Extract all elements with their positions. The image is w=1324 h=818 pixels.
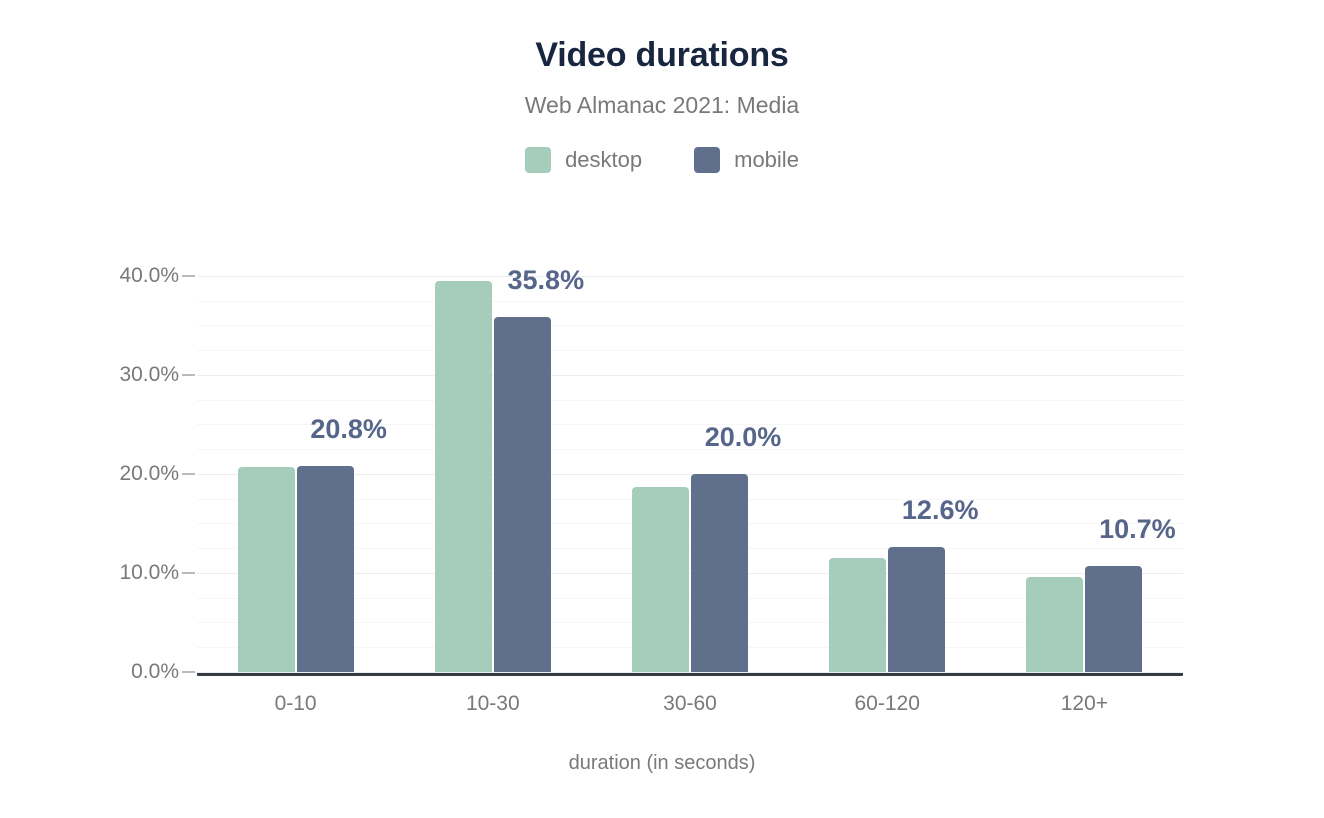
gridline-minor [197, 301, 1183, 302]
gridline-major [197, 375, 1183, 376]
bar-data-label: 10.7% [1099, 514, 1176, 545]
chart-title: Video durations [0, 36, 1324, 75]
gridline-minor [197, 449, 1183, 450]
y-axis-tick-label: 0.0% [59, 660, 179, 684]
legend-swatch-desktop [525, 147, 551, 173]
bar-desktop-60-120[interactable] [829, 558, 886, 672]
plot-area [197, 256, 1183, 672]
bar-desktop-30-60[interactable] [632, 487, 689, 672]
gridline-minor [197, 400, 1183, 401]
legend-label-desktop: desktop [565, 147, 642, 173]
x-axis-title: duration (in seconds) [0, 752, 1324, 775]
y-axis-tick-mark [182, 473, 195, 475]
bar-data-label: 20.0% [705, 422, 782, 453]
bar-desktop-0-10[interactable] [238, 467, 295, 672]
chart-subtitle: Web Almanac 2021: Media [0, 92, 1324, 119]
x-axis-tick-label: 0-10 [275, 692, 317, 716]
chart-container: Video durations Web Almanac 2021: Media … [0, 0, 1324, 818]
gridline-minor [197, 350, 1183, 351]
bar-desktop-120+[interactable] [1026, 577, 1083, 672]
bar-desktop-10-30[interactable] [435, 281, 492, 672]
y-axis-tick-mark [182, 572, 195, 574]
chart-legend: desktop mobile [0, 147, 1324, 173]
x-axis-tick-label: 10-30 [466, 692, 520, 716]
y-axis-tick-label: 30.0% [59, 363, 179, 387]
x-axis-tick-label: 60-120 [854, 692, 919, 716]
gridline-major [197, 672, 1183, 673]
legend-item-mobile[interactable]: mobile [694, 147, 799, 173]
y-axis-tick-label: 10.0% [59, 561, 179, 585]
bar-mobile-60-120[interactable] [888, 547, 945, 672]
y-axis-tick-mark [182, 374, 195, 376]
bar-data-label: 12.6% [902, 495, 979, 526]
y-axis-tick-mark [182, 671, 195, 673]
gridline-minor [197, 325, 1183, 326]
y-axis-tick-label: 20.0% [59, 462, 179, 486]
bar-data-label: 20.8% [310, 414, 387, 445]
bar-mobile-10-30[interactable] [494, 317, 551, 672]
legend-label-mobile: mobile [734, 147, 799, 173]
legend-swatch-mobile [694, 147, 720, 173]
bar-data-label: 35.8% [508, 265, 585, 296]
x-axis-tick-label: 30-60 [663, 692, 717, 716]
y-axis-tick-label: 40.0% [59, 264, 179, 288]
y-axis-tick-mark [182, 275, 195, 277]
x-axis-tick-label: 120+ [1061, 692, 1108, 716]
legend-item-desktop[interactable]: desktop [525, 147, 642, 173]
bar-mobile-0-10[interactable] [297, 466, 354, 672]
bar-mobile-30-60[interactable] [691, 474, 748, 672]
bar-mobile-120+[interactable] [1085, 566, 1142, 672]
gridline-major [197, 276, 1183, 277]
